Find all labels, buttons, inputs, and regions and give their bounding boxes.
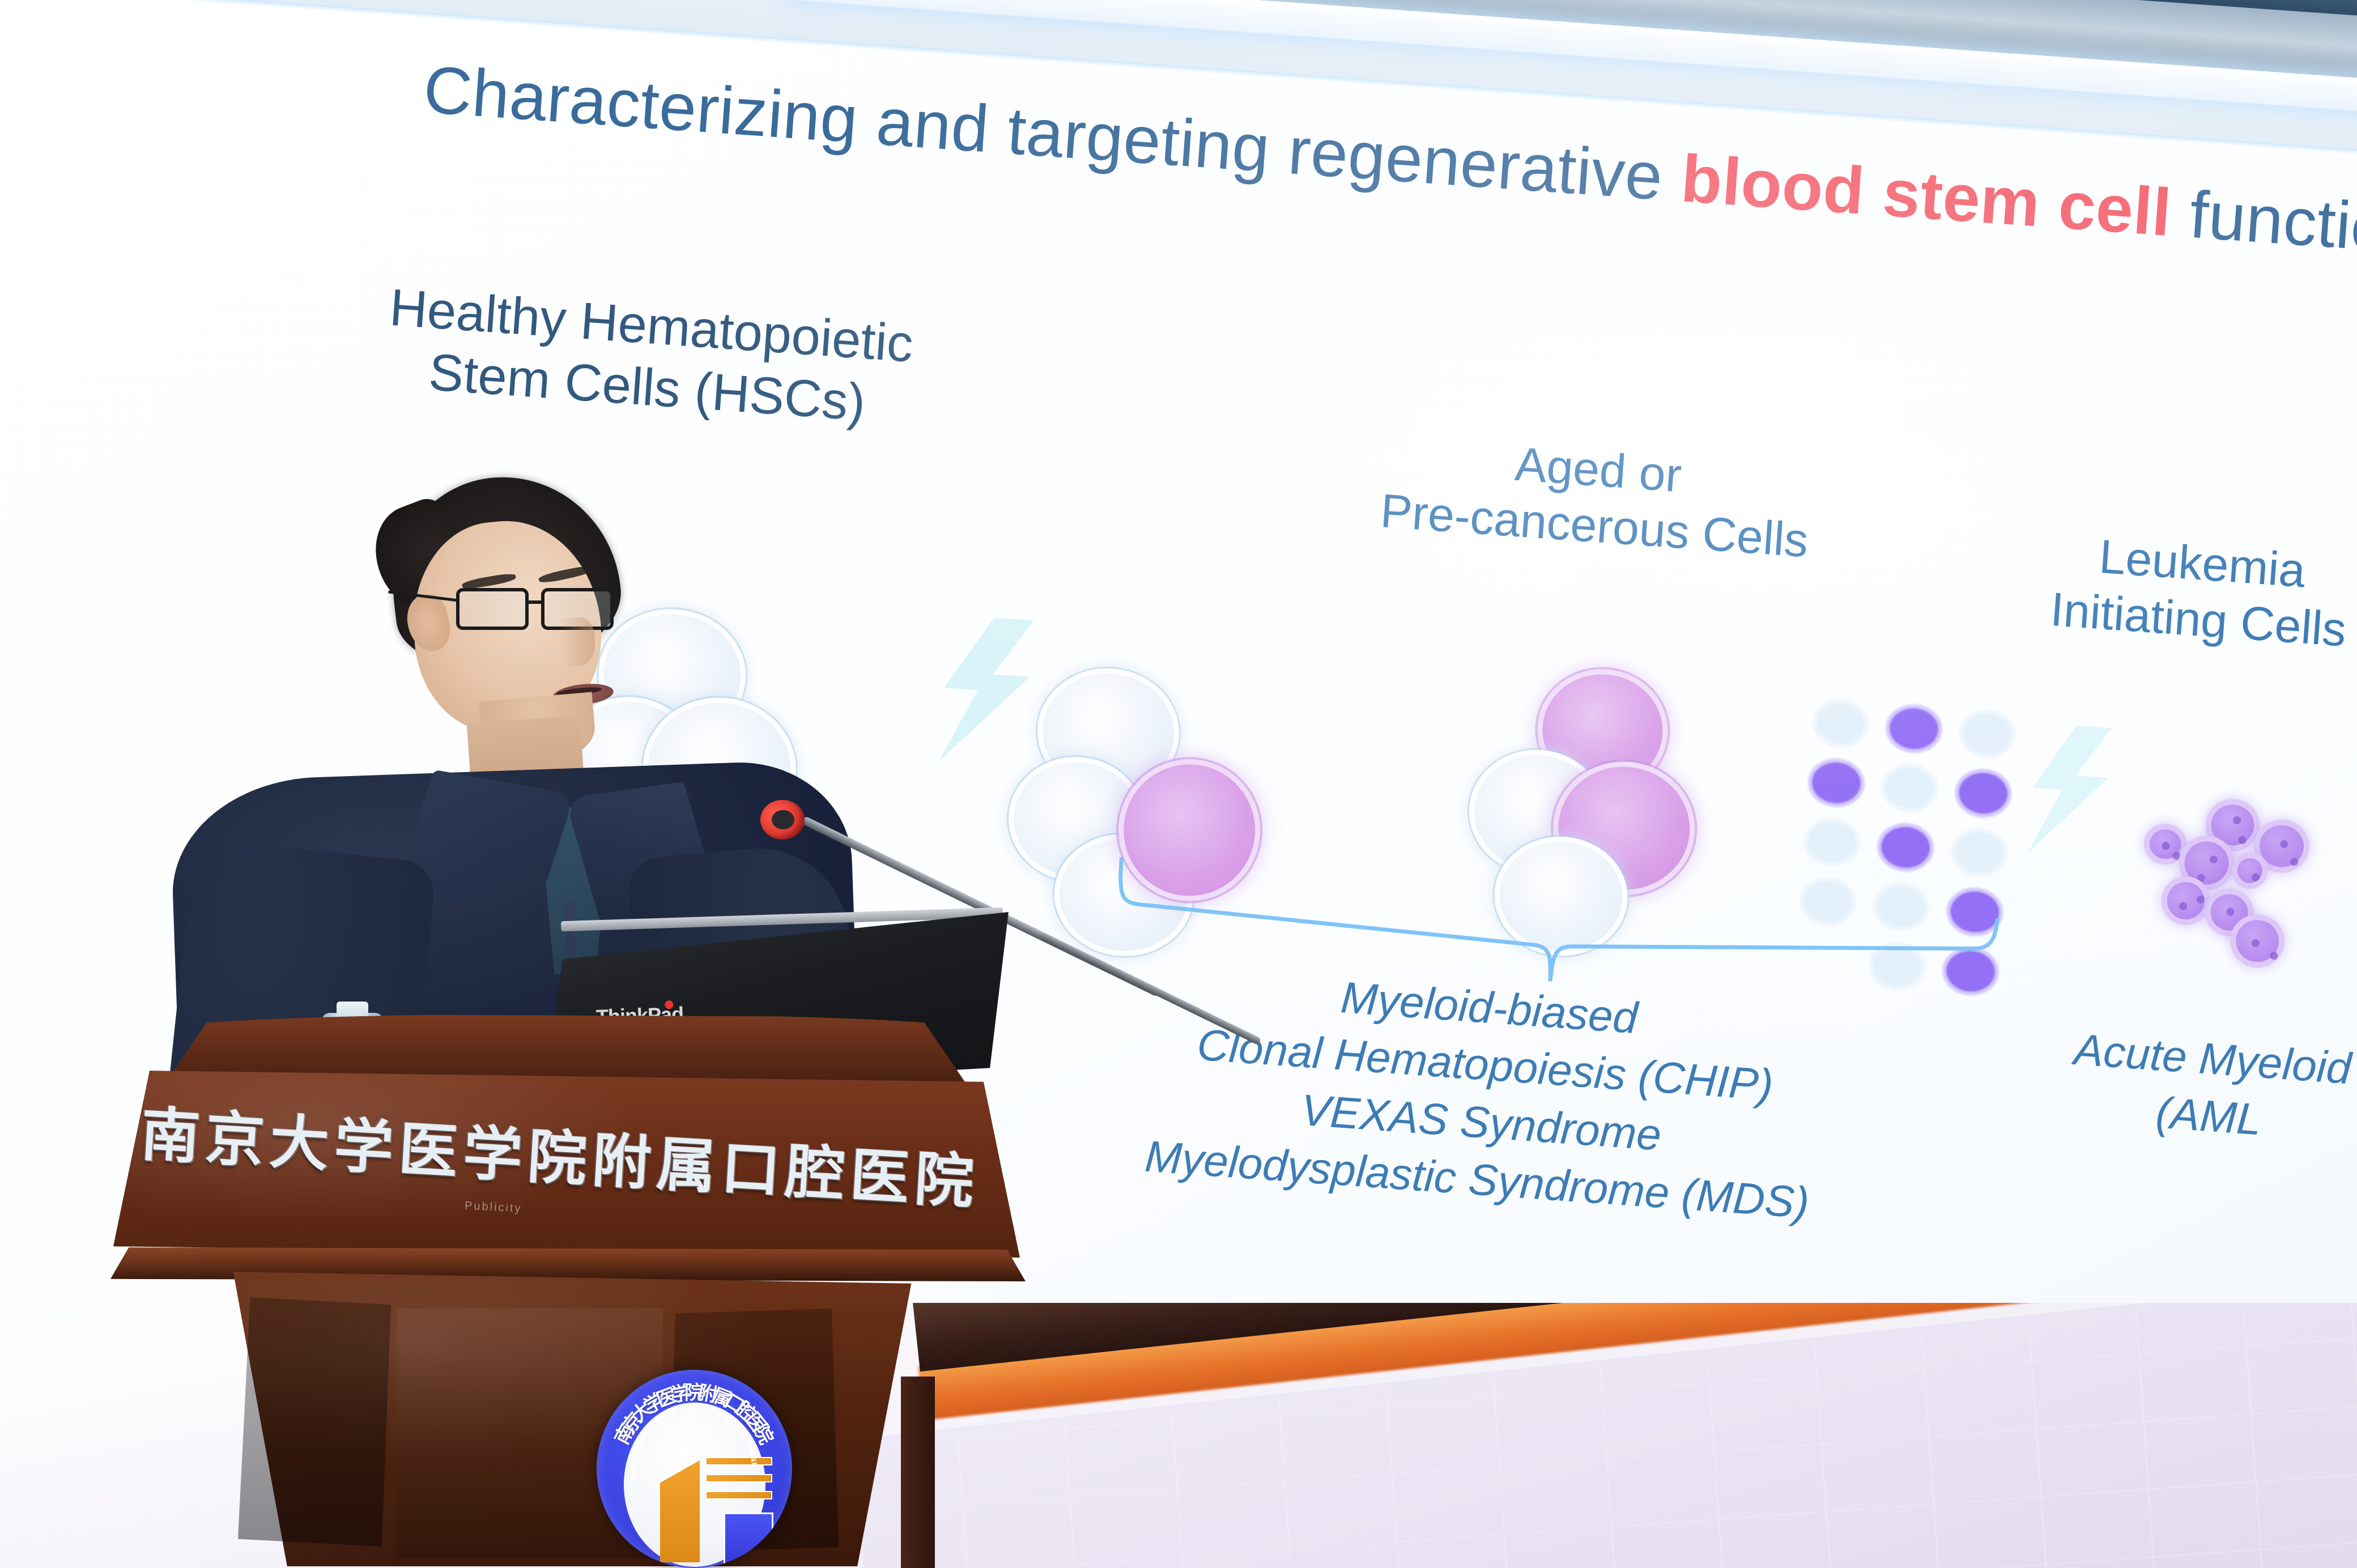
slide-title-highlight: blood stem cell — [1679, 141, 2174, 250]
dot-purple — [1880, 825, 1931, 870]
emblem-english-char: l — [700, 1404, 704, 1413]
hospital-emblem: 南京大学医学院附属口腔医院Nanjing Stomatological Hosp… — [597, 1370, 792, 1568]
emblem-english-char: i — [692, 1403, 694, 1412]
dot-pale — [1962, 712, 2013, 756]
emblem-english-char: y — [751, 1464, 760, 1469]
eyeglasses — [456, 588, 626, 633]
dot-pale — [1953, 830, 2005, 875]
slide-title-part2: function — [2168, 176, 2357, 268]
emblem-english-char: j — [627, 1468, 636, 1470]
glasses-bridge — [527, 600, 543, 604]
panel-label-leukemia: Leukemia Initiating Cells — [1942, 518, 2357, 666]
dot-purple — [1811, 761, 1862, 805]
podium: 南京大学医学院附属口腔医院 Publicity — [0, 1014, 1190, 1568]
lightning-bolt-icon — [2017, 722, 2122, 858]
panel-label-hsc: Healthy Hematopoietic Stem Cells (HSCs) — [255, 268, 1044, 446]
dot-purple — [1958, 771, 2009, 815]
dot-purple — [1888, 706, 1940, 751]
photo-scene: Characterizing and targeting regenerativ… — [0, 0, 2357, 1568]
dot-pale — [1806, 820, 1858, 864]
dot-pale — [1884, 766, 1935, 810]
dot-pale — [1815, 701, 1866, 745]
microphone-head — [760, 800, 805, 840]
podium-panel-left — [238, 1297, 391, 1546]
cell-cluster-leukemia — [2133, 793, 2316, 986]
emblem-ring-text: 南京大学医学院附属口腔医院Nanjing Stomatological Hosp… — [597, 1370, 792, 1568]
panel-label-aged: Aged or Pre-cancerous Cells — [1296, 421, 1897, 575]
lens — [456, 588, 529, 630]
